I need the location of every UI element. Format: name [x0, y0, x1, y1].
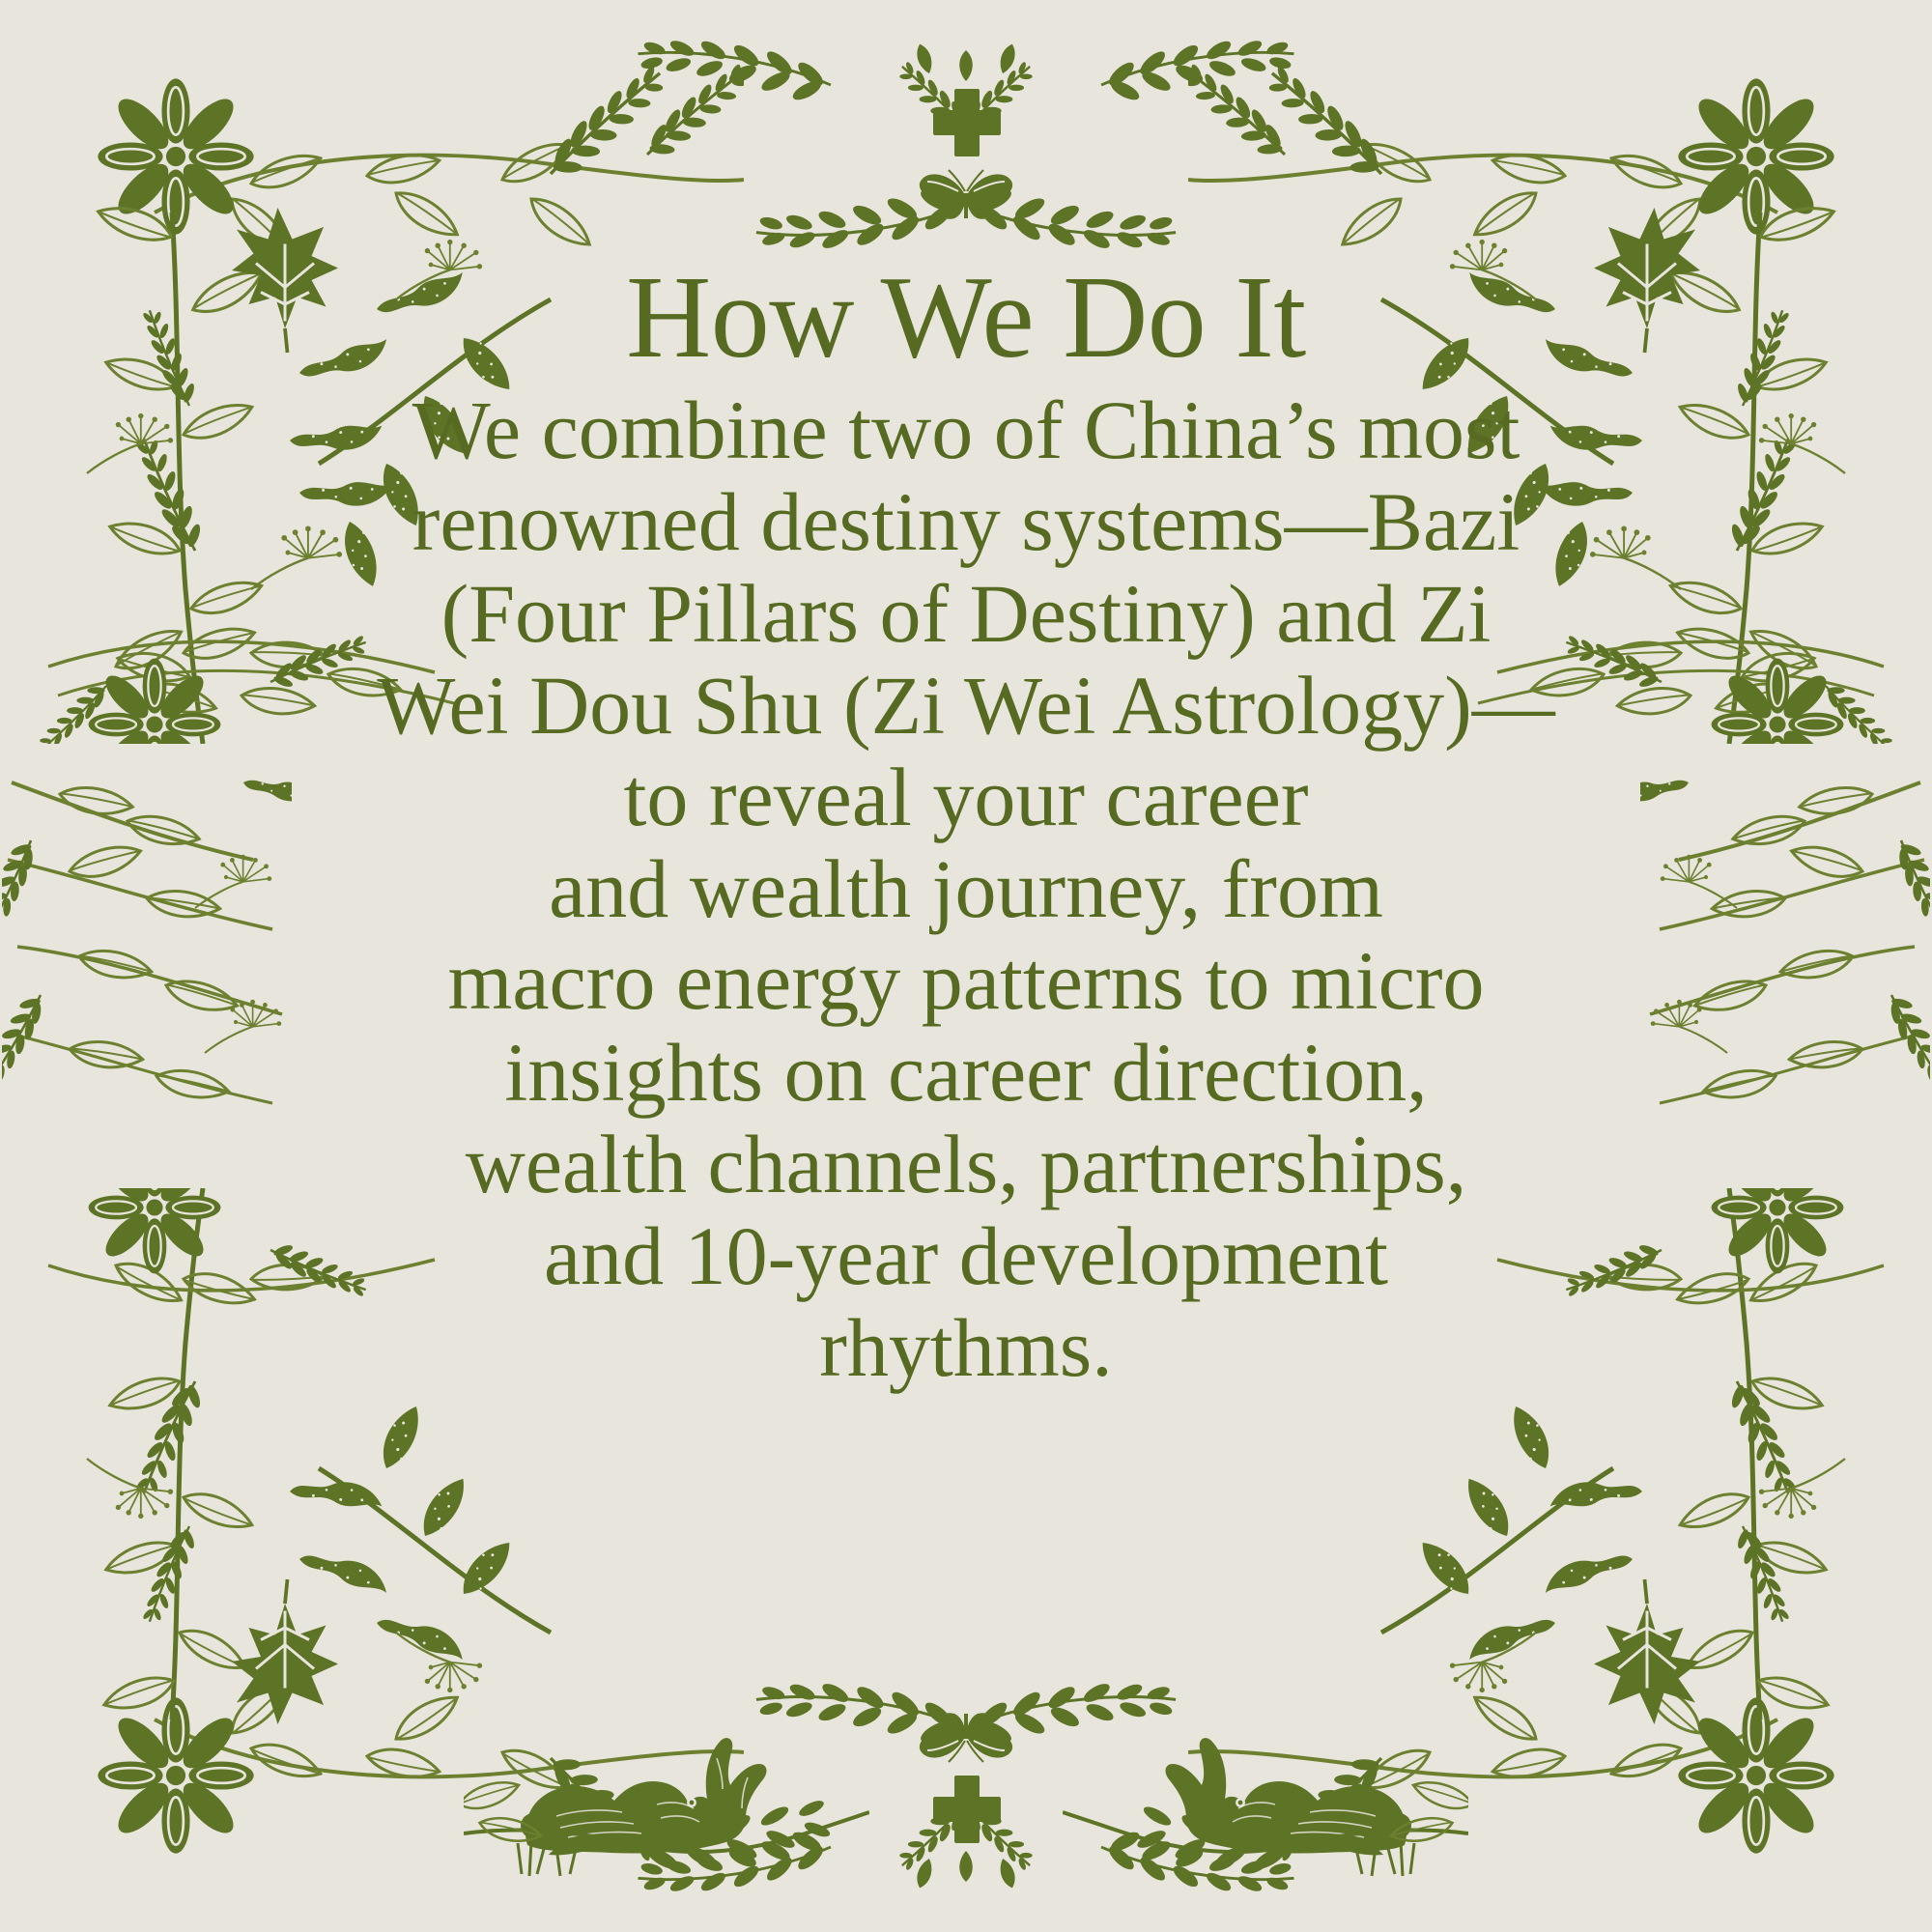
- laurel-arch: [749, 1655, 1183, 1872]
- laurel-spray-right: [1101, 38, 1294, 103]
- body-copy-line: renowned destiny systems—Bazi: [222, 476, 1710, 568]
- body-copy: We combine two of China’s mostrenowned d…: [0, 384, 1932, 1394]
- rabbit-icon: [521, 1738, 766, 1855]
- body-copy-line: and 10-year development: [222, 1210, 1710, 1302]
- rabbit-icon: [1166, 1738, 1411, 1855]
- body-copy-line: insights on career direction,: [222, 1027, 1710, 1119]
- drop-leaf-icon: [914, 1851, 1019, 1890]
- cross-icon: [933, 1776, 1001, 1843]
- laurel-arch: [749, 60, 1183, 277]
- cross-icon: [933, 89, 1001, 156]
- decorative-text-card: How We Do It We combine two of China’s m…: [0, 0, 1932, 1932]
- body-copy-line: rhythms.: [222, 1302, 1710, 1394]
- card-content: How We Do It We combine two of China’s m…: [0, 259, 1932, 1394]
- butterfly-icon: [920, 170, 1012, 219]
- drop-leaf-icon: [914, 42, 1019, 81]
- daisy-flower-icon: [98, 78, 253, 234]
- body-copy-line: to reveal your career: [222, 752, 1710, 843]
- body-copy-line: We combine two of China’s most: [222, 384, 1710, 476]
- page-title: How We Do It: [0, 259, 1932, 377]
- body-copy-line: and wealth journey, from: [222, 843, 1710, 935]
- butterfly-icon: [920, 1713, 1012, 1762]
- body-copy-line: Wei Dou Shu (Zi Wei Astrology)—: [222, 660, 1710, 752]
- leaping-rabbit-left: [464, 1681, 869, 1903]
- body-copy-line: (Four Pillars of Destiny) and Zi: [222, 568, 1710, 660]
- body-copy-line: macro energy patterns to micro: [222, 935, 1710, 1027]
- fern-icon: [639, 62, 744, 157]
- laurel-spray-left: [639, 38, 832, 103]
- outline-leaf-icon: [464, 1778, 543, 1850]
- fern-icon: [537, 64, 673, 178]
- bottom-center-ornament: [589, 1638, 1343, 1918]
- outline-leaf-icon: [225, 137, 595, 260]
- body-copy-line: wealth channels, partnerships,: [222, 1119, 1710, 1210]
- leaping-rabbit-right: [1063, 1681, 1468, 1903]
